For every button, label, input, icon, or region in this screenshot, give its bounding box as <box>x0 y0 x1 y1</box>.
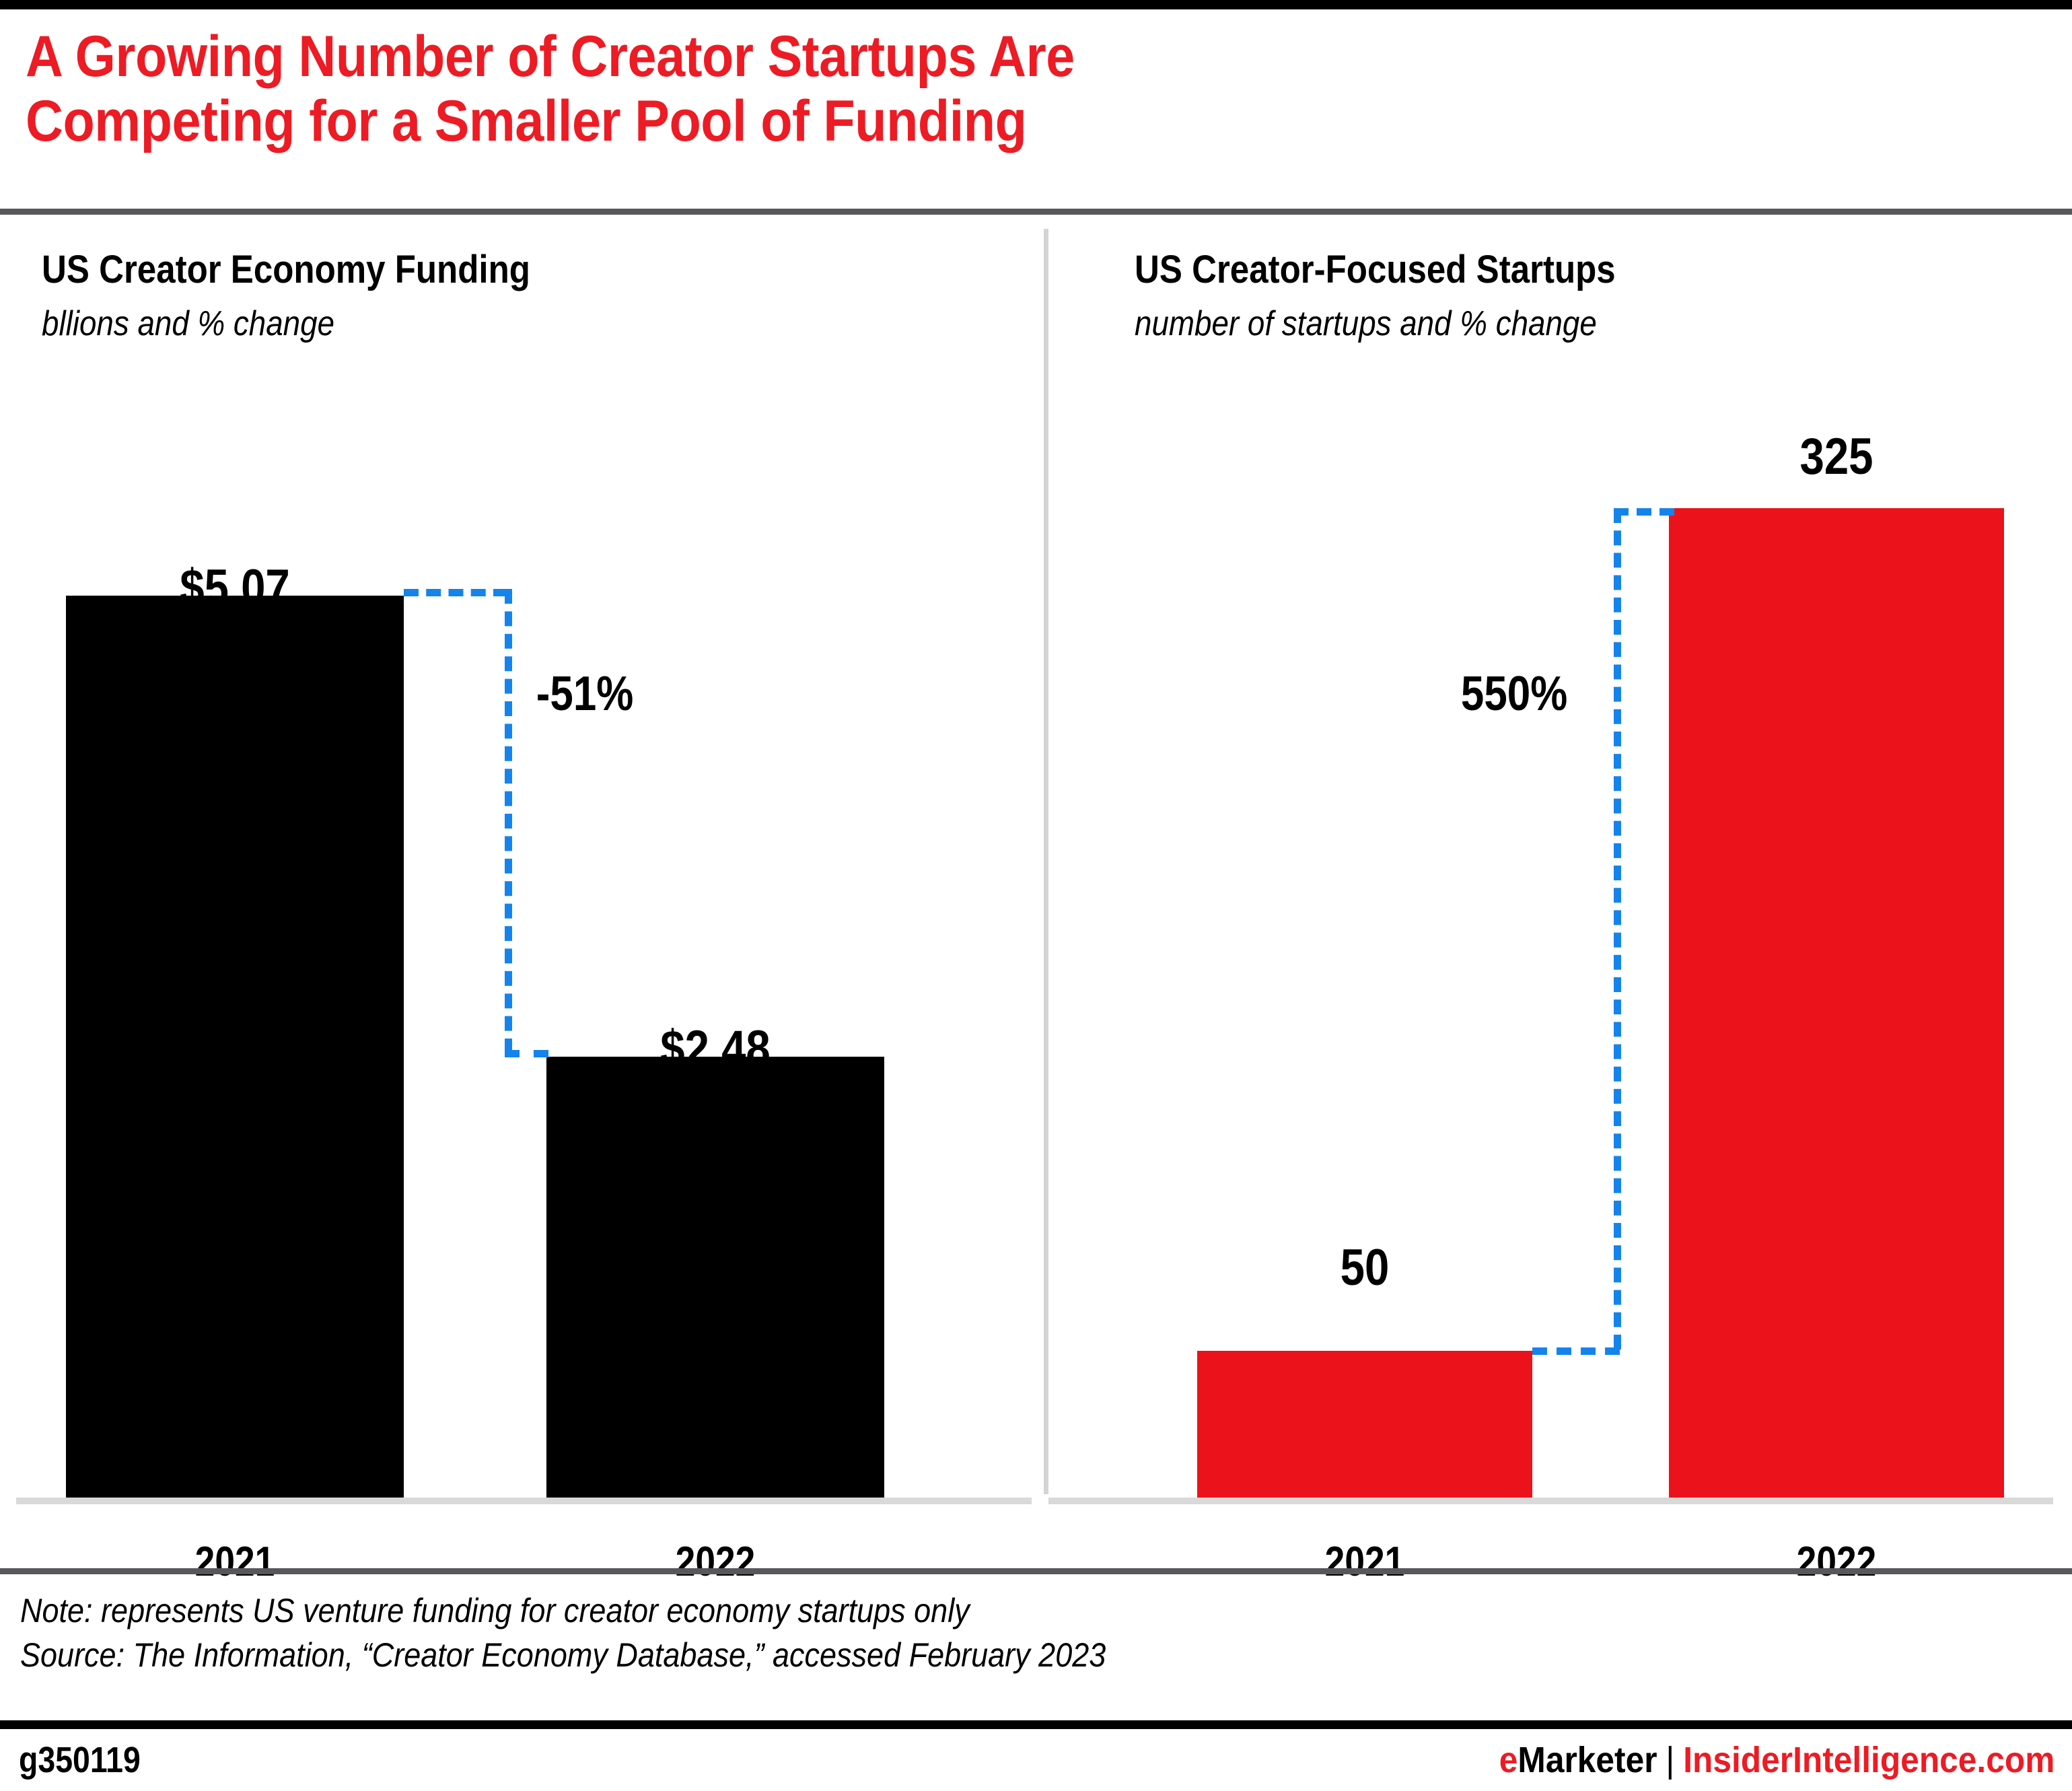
bar-value-startups-2022: 325 <box>1692 427 1980 486</box>
bar-startups-2021[interactable] <box>1197 1351 1532 1498</box>
note-text: Note: represents US venture funding for … <box>20 1588 1837 1633</box>
panel-funding: US Creator Economy Funding bllions and %… <box>0 222 1044 1508</box>
panel-startups-plot: 50 325 550% 2021 2022 <box>1048 222 2072 1508</box>
brand-separator: | <box>1657 1740 1683 1780</box>
chart-title: A Growing Number of Creator Startups Are… <box>26 24 2017 153</box>
brand-lockup[interactable]: eMarketer|InsiderIntelligence.com <box>1499 1739 2055 1781</box>
category-label-funding-2022: 2022 <box>570 1538 861 1586</box>
panel-startups-baseline <box>1048 1498 2053 1504</box>
category-label-startups-2021: 2021 <box>1221 1538 1509 1586</box>
bar-funding-2022[interactable] <box>546 1057 884 1498</box>
change-label-funding: -51% <box>536 666 634 722</box>
panel-funding-baseline <box>16 1498 1032 1504</box>
connector-top-funding <box>404 589 508 596</box>
bar-value-funding-2021: $5.07 <box>90 559 380 617</box>
brand-emarketer-e: e <box>1499 1740 1517 1780</box>
chart-title-line-1: A Growing Number of Creator Startups Are <box>26 24 1818 89</box>
panel-funding-plot: $5.07 $2.48 -51% 2021 2022 <box>0 222 1044 1508</box>
panel-divider <box>1044 229 1048 1494</box>
bar-startups-2022[interactable] <box>1669 508 2004 1498</box>
top-rule <box>0 0 2072 9</box>
notes-divider-rule <box>0 1568 2072 1574</box>
notes-block: Note: represents US venture funding for … <box>20 1588 2039 1677</box>
bar-value-funding-2022: $2.48 <box>570 1020 861 1078</box>
connector-top-startups <box>1614 508 1674 516</box>
connector-vertical-startups <box>1614 508 1621 1349</box>
bar-funding-2021[interactable] <box>66 596 404 1498</box>
footer-rule <box>0 1720 2072 1729</box>
panel-startups: US Creator-Focused Startups number of st… <box>1048 222 2072 1508</box>
category-label-funding-2021: 2021 <box>90 1538 380 1586</box>
chart-figure: A Growing Number of Creator Startups Are… <box>0 0 2072 1791</box>
chart-id: g350119 <box>19 1739 141 1781</box>
brand-insider-intelligence: InsiderIntelligence.com <box>1683 1740 2055 1780</box>
category-label-startups-2022: 2022 <box>1692 1538 1980 1586</box>
change-label-startups: 550% <box>1461 666 1567 722</box>
chart-title-line-2: Competing for a Smaller Pool of Funding <box>26 89 1818 153</box>
brand-emarketer-word: Marketer <box>1517 1740 1657 1780</box>
title-divider-rule <box>0 209 2072 215</box>
connector-bottom-startups <box>1532 1347 1620 1355</box>
source-text: Source: The Information, “Creator Econom… <box>20 1633 1837 1677</box>
connector-bottom-funding <box>505 1050 548 1057</box>
bar-value-startups-2021: 50 <box>1221 1238 1509 1297</box>
panels-container: US Creator Economy Funding bllions and %… <box>0 222 2072 1508</box>
connector-vertical-funding <box>505 589 512 1053</box>
